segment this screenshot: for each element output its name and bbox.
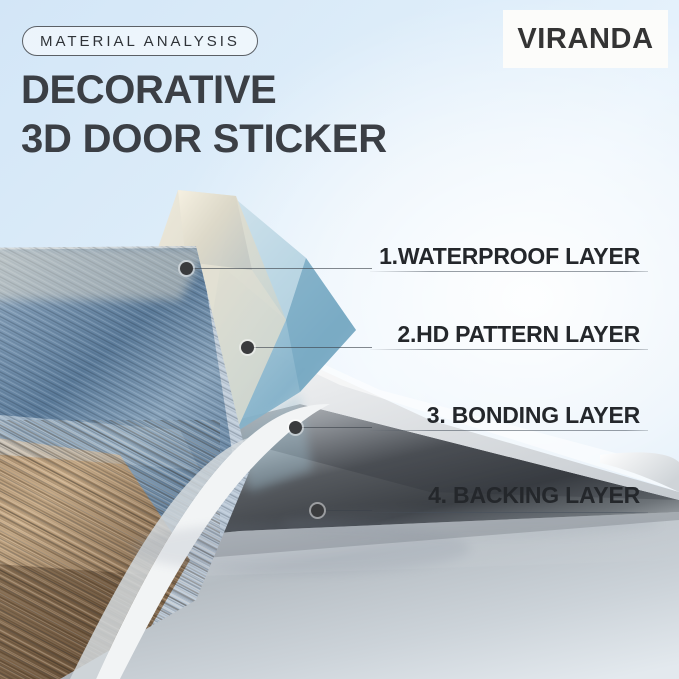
callout-label-2: 2.HD PATTERN LAYER: [397, 323, 640, 346]
callout-rule-2: [370, 349, 648, 350]
callout-label-4: 4. BACKING LAYER: [428, 484, 640, 507]
poster-canvas: MATERIAL ANALYSIS DECORATIVE 3D DOOR STI…: [0, 0, 679, 679]
callout-label-1: 1.WATERPROOF LAYER: [379, 245, 640, 268]
brand-logo-text: VIRANDA: [517, 23, 653, 56]
page-title: DECORATIVE 3D DOOR STICKER: [21, 66, 387, 164]
callout-dot-4: [311, 504, 324, 517]
page-title-line1: DECORATIVE: [21, 66, 387, 115]
callout-leader-line-3: [299, 427, 372, 428]
callout-rule-3: [370, 430, 648, 431]
page-title-line2: 3D DOOR STICKER: [21, 115, 387, 164]
callout-rule-4: [370, 512, 648, 513]
brand-logo: VIRANDA: [503, 10, 668, 68]
callout-dot-1: [180, 262, 193, 275]
callout-rule-1: [370, 271, 648, 272]
callout-label-3: 3. BONDING LAYER: [427, 404, 640, 427]
callout-leader-line-2: [251, 347, 372, 348]
eyebrow-label: MATERIAL ANALYSIS: [40, 34, 240, 49]
callout-leader-line-4: [321, 510, 372, 511]
eyebrow-pill: MATERIAL ANALYSIS: [22, 26, 258, 56]
callout-dot-3: [289, 421, 302, 434]
callout-dot-2: [241, 341, 254, 354]
callout-leader-line-1: [190, 268, 372, 269]
